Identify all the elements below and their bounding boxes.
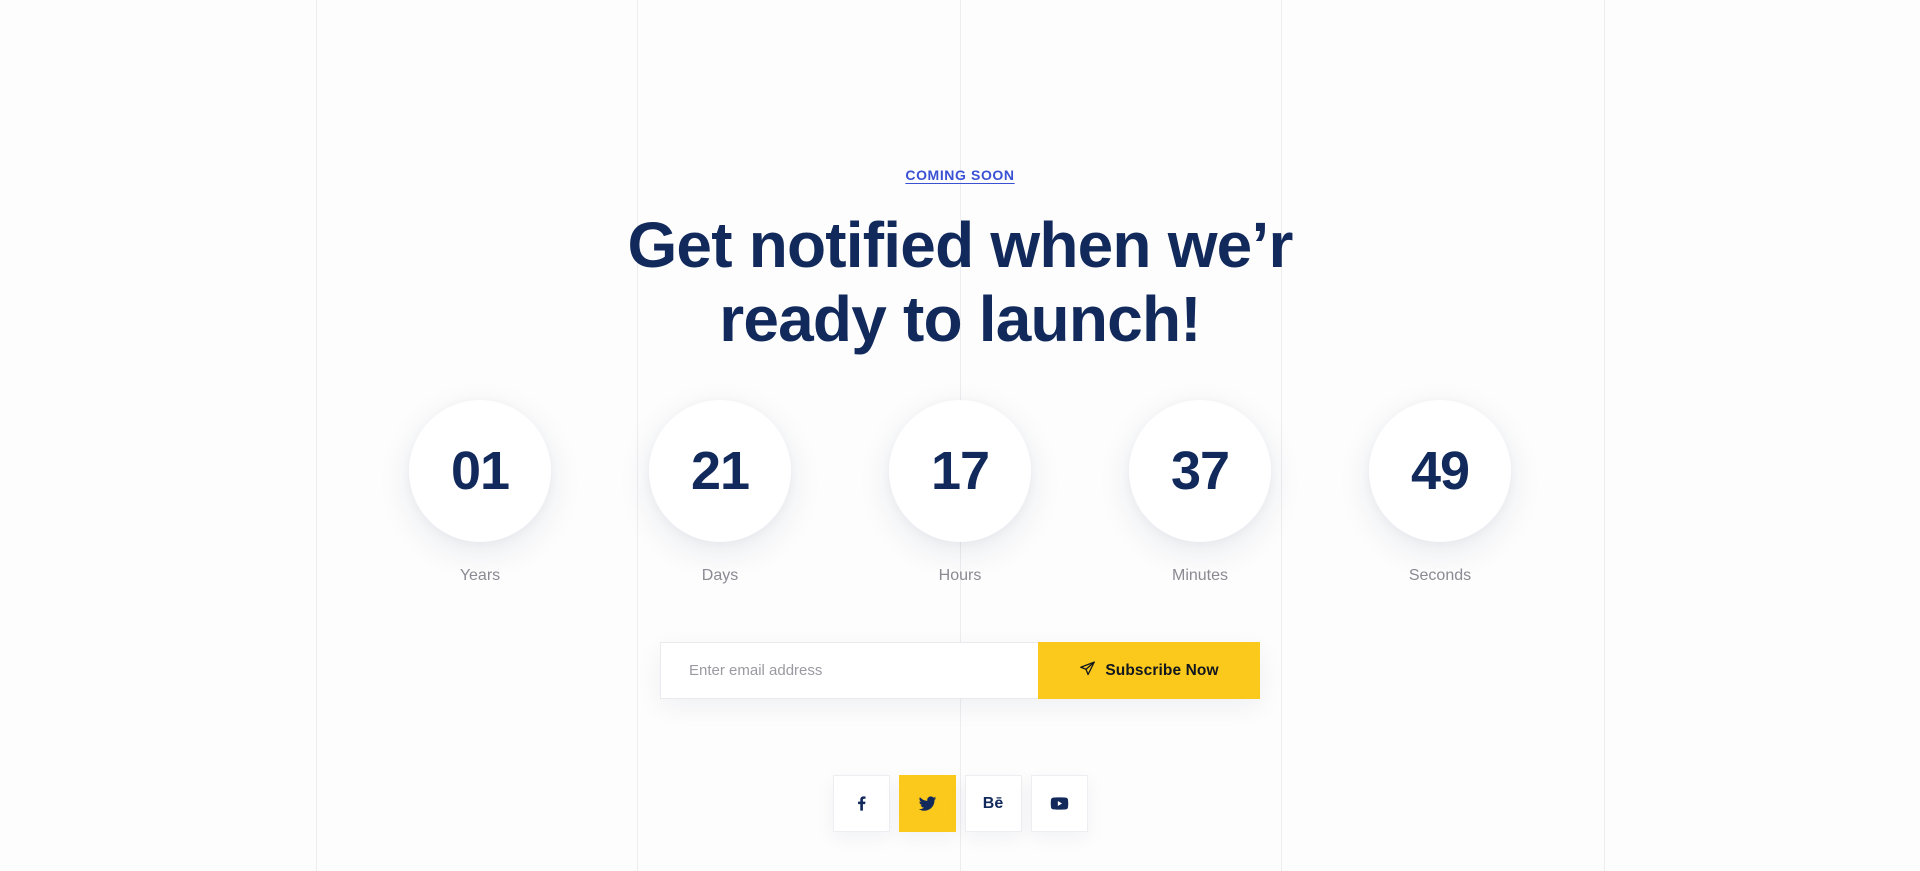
countdown-circle: 21 [649,400,791,542]
email-input[interactable] [660,642,1038,699]
countdown-item-minutes: 37 Minutes [1120,400,1280,584]
social-link-youtube[interactable] [1031,775,1088,832]
countdown-item-years: 01 Years [400,400,560,584]
countdown-item-days: 21 Days [640,400,800,584]
social-link-facebook[interactable] [833,775,890,832]
page-title: Get notified when we’r ready to launch! [550,208,1370,356]
countdown-value: 17 [931,444,989,498]
countdown-value: 01 [451,444,509,498]
countdown-label: Years [460,568,500,584]
countdown-circle: 49 [1369,400,1511,542]
countdown-circle: 37 [1129,400,1271,542]
youtube-icon [1049,793,1070,814]
countdown-item-hours: 17 Hours [880,400,1040,584]
social-link-behance[interactable]: Bē [965,775,1022,832]
coming-soon-eyebrow[interactable]: COMING SOON [905,168,1014,182]
countdown-item-seconds: 49 Seconds [1360,400,1520,584]
countdown-label: Hours [939,568,982,584]
countdown-value: 49 [1411,444,1469,498]
subscribe-form: Subscribe Now [660,642,1260,699]
paper-plane-icon [1079,660,1096,682]
social-links: Bē [833,775,1088,832]
countdown-label: Days [702,568,738,584]
countdown-value: 21 [691,444,749,498]
social-link-twitter[interactable] [899,775,956,832]
countdown-circle: 17 [889,400,1031,542]
countdown-label: Seconds [1409,568,1471,584]
subscribe-button[interactable]: Subscribe Now [1038,642,1260,699]
headline-line-1: Get notified when we’r [550,208,1370,282]
countdown-circle: 01 [409,400,551,542]
twitter-icon [917,793,938,814]
countdown-timer: 01 Years 21 Days 17 Hours 37 Minutes 49 [400,400,1520,584]
coming-soon-page: COMING SOON Get notified when we’r ready… [0,0,1920,871]
subscribe-button-label: Subscribe Now [1105,662,1218,680]
behance-icon: Bē [983,796,1003,812]
countdown-label: Minutes [1172,568,1228,584]
countdown-value: 37 [1171,444,1229,498]
facebook-icon [852,794,871,813]
headline-line-2: ready to launch! [550,282,1370,356]
